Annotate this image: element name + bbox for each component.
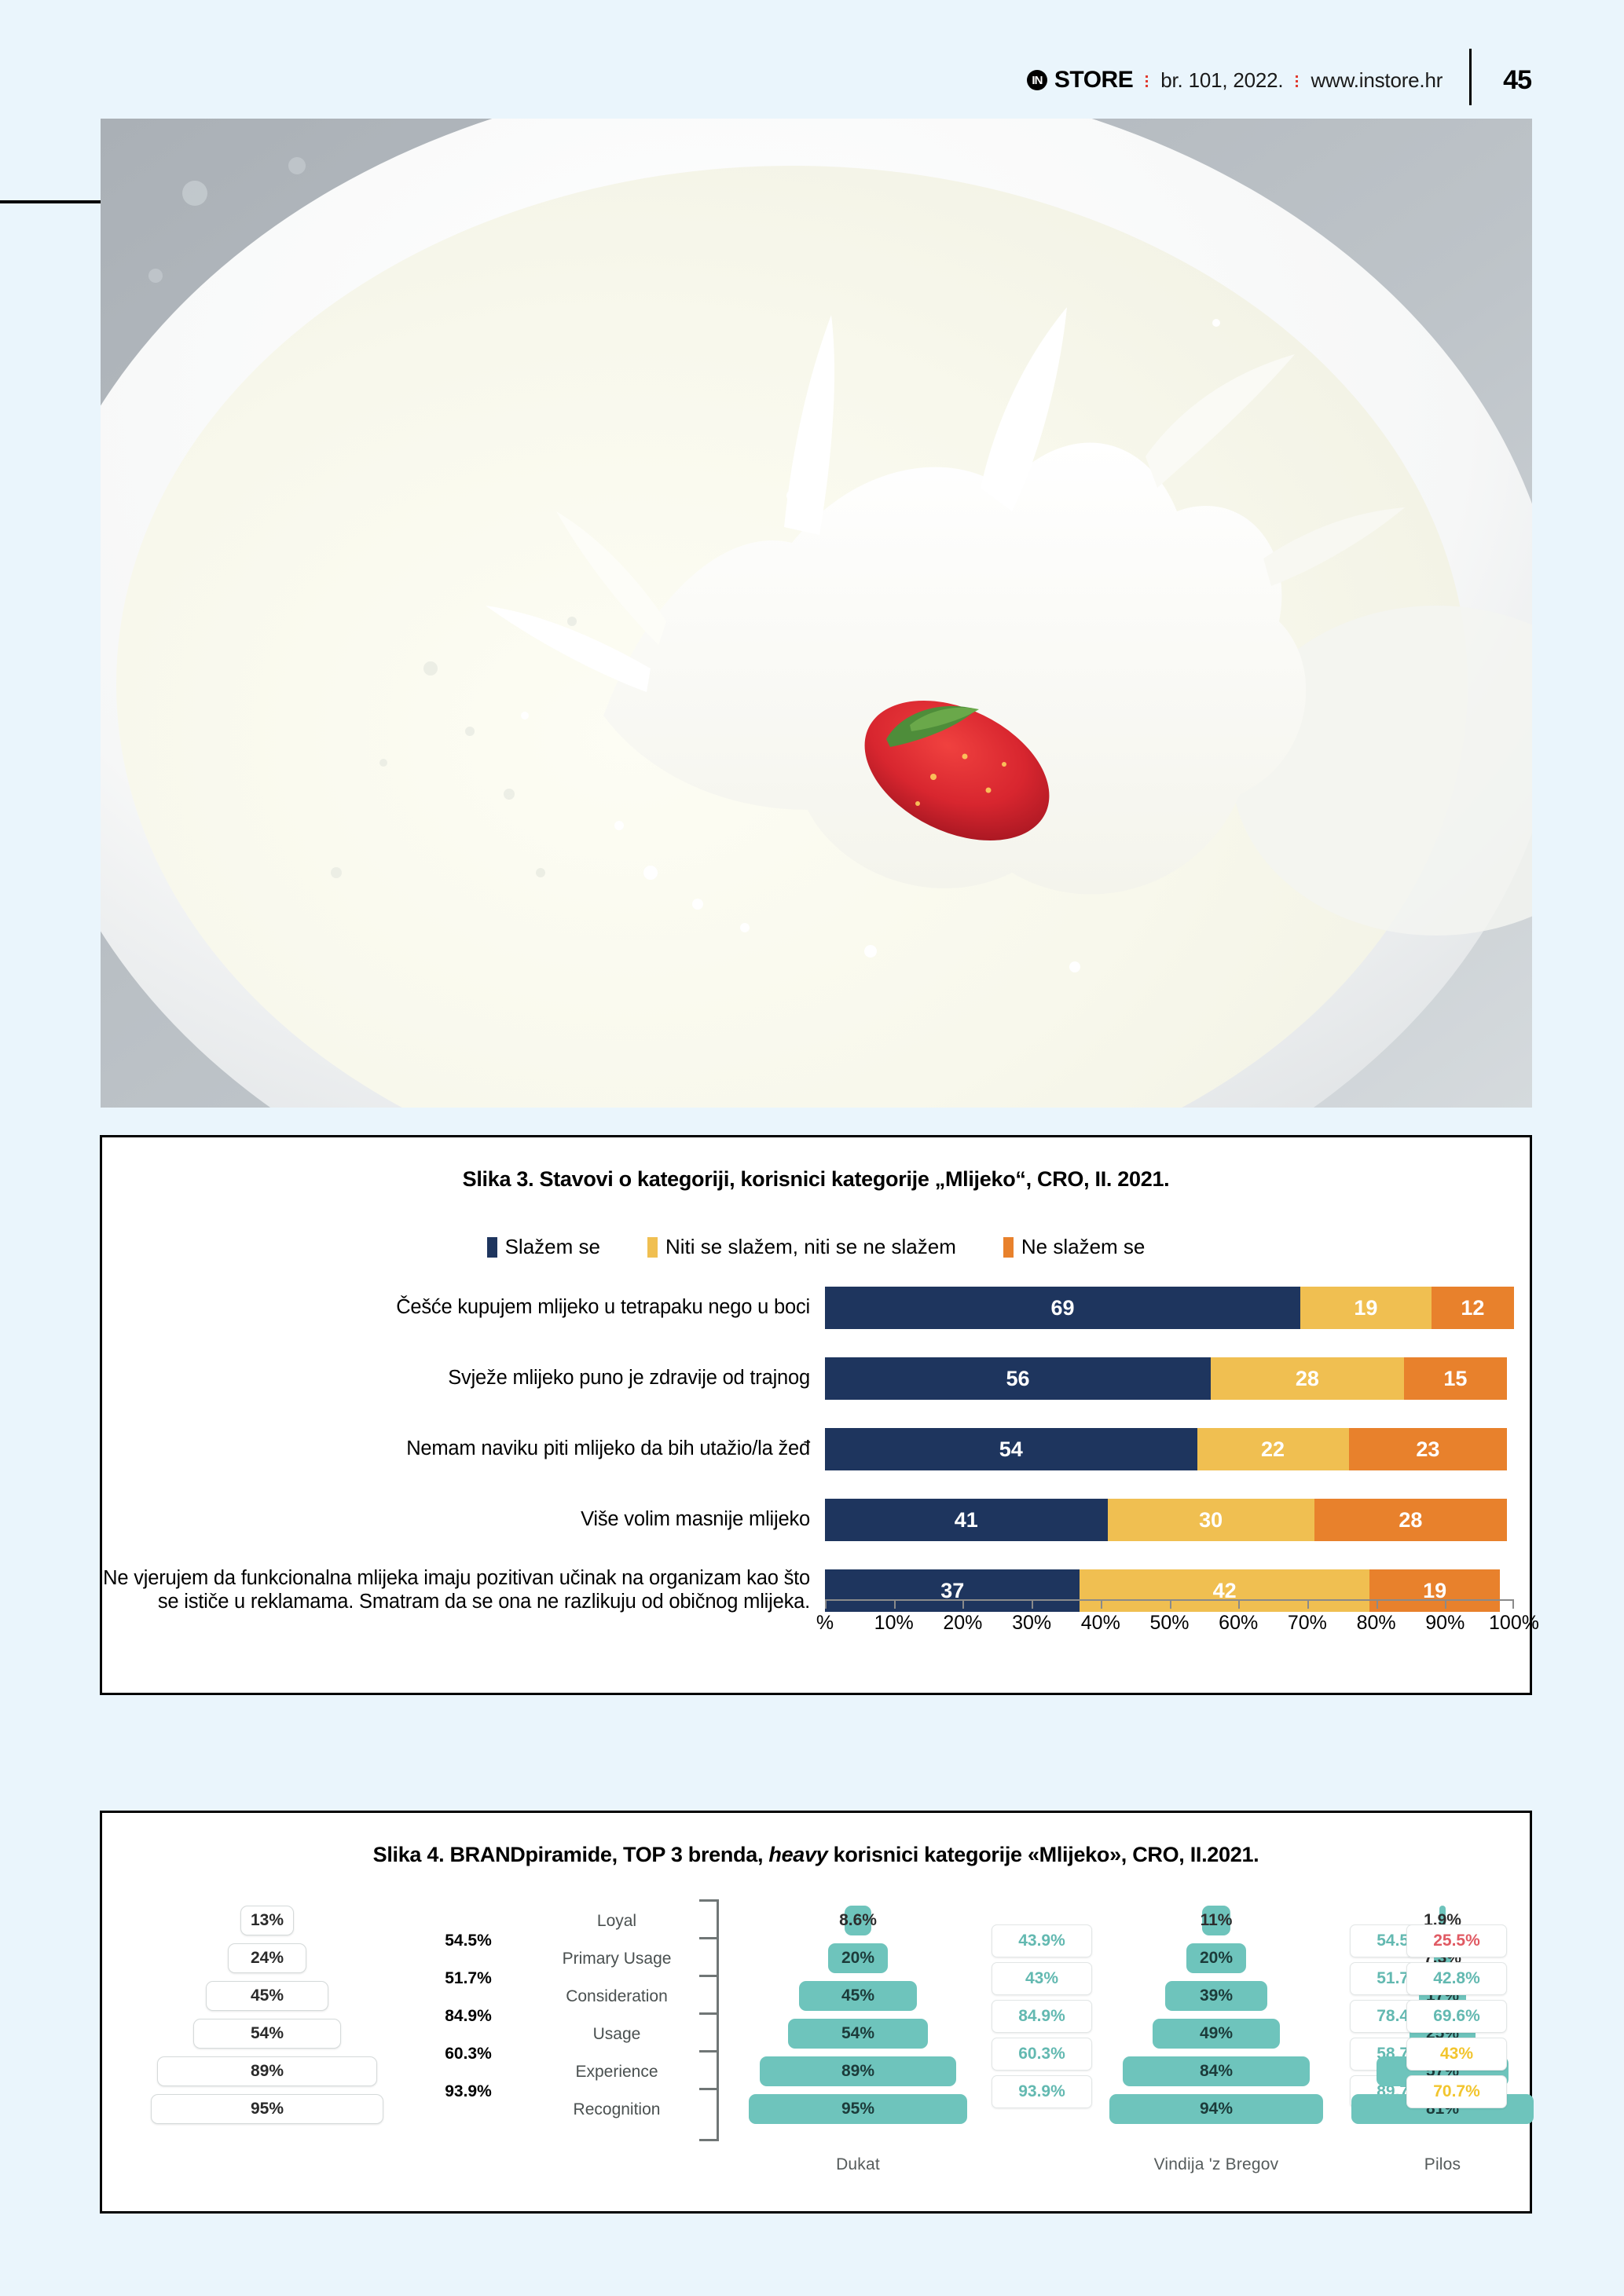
stage-label-loyal: Loyal <box>526 1912 707 1931</box>
bar-segment-neutral: 30 <box>1108 1499 1314 1541</box>
pyramid-bar: 54% <box>193 2019 341 2049</box>
bar-segment-neutral: 28 <box>1211 1357 1404 1400</box>
pyramid-row: 95% <box>740 2094 976 2124</box>
bar-row: Nemam naviku piti mlijeko da bih utažio/… <box>102 1428 1530 1470</box>
conversion-value: 70.7% <box>1406 2075 1507 2108</box>
bar-category-label: Češće kupujem mlijeko u tetrapaku nego u… <box>102 1296 825 1320</box>
conversion-value: 93.9% <box>418 2075 519 2108</box>
pyramid-row: 95% <box>149 2094 385 2124</box>
pyramid-reference: 13% 24% 45% 54% 89% 95% <box>149 1906 385 2141</box>
instore-logo: IN STORE <box>1027 67 1133 93</box>
pyramid-row: 49% <box>1098 2019 1334 2049</box>
axis-tick <box>1512 1599 1514 1609</box>
pyramid-row: 8.6% <box>740 1906 976 1935</box>
milk-splash-illustration <box>101 119 1532 1108</box>
left-horizontal-rule <box>0 200 104 203</box>
pyramid-row: 54% <box>149 2019 385 2049</box>
stage-axis-tick <box>699 2088 717 2090</box>
conversion-value: 25.5% <box>1406 1924 1507 1957</box>
slika3-panel: Slika 3. Stavovi o kategoriji, korisnici… <box>100 1135 1532 1695</box>
bar-category-label: Ne vjerujem da funkcionalna mlijeka imaj… <box>102 1567 825 1614</box>
pyramid-bar: 84% <box>1123 2056 1310 2086</box>
conversion-value: 60.3% <box>992 2038 1092 2071</box>
bar-segment-agree: 56 <box>825 1357 1211 1400</box>
legend-item-neutral: Niti se slažem, niti se ne slažem <box>647 1235 956 1259</box>
pyramid-row: 20% <box>740 1943 976 1973</box>
conversion-value: 54.5% <box>418 1924 519 1957</box>
magazine-header: IN STORE br. 101, 2022. www.instore.hr 4… <box>1027 57 1531 104</box>
bar-category-label: Svježe mlijeko puno je zdravije od trajn… <box>102 1367 825 1390</box>
brand-name-pilos: Pilos <box>1325 2155 1560 2174</box>
pyramid-row: 89% <box>740 2056 976 2086</box>
axis-tick <box>1445 1599 1446 1609</box>
brand-name-vindija: Vindija 'z Bregov <box>1098 2155 1334 2174</box>
pyramid-row: 89% <box>149 2056 385 2086</box>
axis-tick <box>962 1599 964 1609</box>
instore-logo-mark-icon: IN <box>1027 70 1047 90</box>
pyramid-bar: 89% <box>760 2056 956 2086</box>
stage-label-primary-usage: Primary Usage <box>526 1950 707 1968</box>
pyramid-row: 20% <box>1098 1943 1334 1973</box>
legend-item-disagree: Ne slažem se <box>1003 1235 1146 1259</box>
legend-swatch-agree-icon <box>487 1237 497 1258</box>
conversion-value: 84.9% <box>992 2000 1092 2033</box>
pyramid-rows: 11% 20% 39% 49% 84% 94% <box>1098 1906 1334 2141</box>
slika4-title-italic: heavy <box>768 1843 827 1866</box>
slika4-title-post: korisnici kategorije «Mlijeko», CRO, II.… <box>827 1843 1259 1866</box>
conversion-value: 43% <box>1406 2038 1507 2071</box>
axis-tick-label: 50% <box>1149 1612 1189 1635</box>
pyramid-row: 54% <box>740 2019 976 2049</box>
pyramid-bar: 95% <box>749 2094 967 2124</box>
axis-tick <box>894 1599 896 1609</box>
bar-segment-neutral: 19 <box>1300 1287 1432 1329</box>
bar-segment-disagree: 23 <box>1349 1428 1508 1470</box>
stage-axis-tick <box>699 1899 717 1902</box>
axis-tick <box>1170 1599 1171 1609</box>
axis-tick-label: % <box>816 1612 834 1635</box>
axis-tick <box>1238 1599 1240 1609</box>
bar-segment-disagree: 15 <box>1404 1357 1508 1400</box>
slika4-panel: Slika 4. BRANDpiramide, TOP 3 brenda, he… <box>100 1811 1532 2214</box>
pyramid-bar: 8.6% <box>845 1906 871 1935</box>
pyramid-bar: 45% <box>799 1981 917 2011</box>
axis-tick-label: 10% <box>874 1612 914 1635</box>
bar-segment-disagree: 28 <box>1314 1499 1508 1541</box>
legend-swatch-disagree-icon <box>1003 1237 1014 1258</box>
conversion-value: 43.9% <box>992 1924 1092 1957</box>
stage-axis-tick <box>699 2050 717 2052</box>
conversion-value: 42.8% <box>1406 1962 1507 1995</box>
axis-tick-label: 60% <box>1219 1612 1258 1635</box>
conversion-value: 84.9% <box>418 2000 519 2033</box>
bar-track: 56 28 15 <box>825 1357 1514 1400</box>
conversion-value: 43% <box>992 1962 1092 1995</box>
pyramid-brand-vindija: 11% 20% 39% 49% 84% 94% Vindija 'z Brego… <box>1098 1906 1334 2141</box>
bar-segment-neutral: 22 <box>1197 1428 1349 1470</box>
conversion-value: 93.9% <box>992 2075 1092 2108</box>
stage-label-usage: Usage <box>526 2025 707 2044</box>
bar-segment-disagree: 12 <box>1432 1287 1514 1329</box>
legend-label-disagree: Ne slažem se <box>1021 1235 1146 1259</box>
slika4-brandpyramid-chart: 13% 24% 45% 54% 89% 95% 54.5% 51.7% 84.9… <box>102 1906 1530 2196</box>
bar-track: 69 19 12 <box>825 1287 1514 1329</box>
pyramid-row: 24% <box>149 1943 385 1973</box>
issue-label: br. 101, 2022. <box>1160 68 1283 93</box>
header-dot-separator-icon-2 <box>1296 68 1298 93</box>
legend-item-agree: Slažem se <box>487 1235 600 1259</box>
axis-tick-label: 40% <box>1081 1612 1120 1635</box>
axis-tick-label: 80% <box>1357 1612 1396 1635</box>
axis-tick-label: 20% <box>943 1612 982 1635</box>
pyramid-bar: 95% <box>151 2094 383 2124</box>
slika3-title: Slika 3. Stavovi o kategoriji, korisnici… <box>102 1167 1530 1192</box>
pyramid-row: 11% <box>1098 1906 1334 1935</box>
header-vertical-rule <box>1469 49 1472 105</box>
slika3-legend: Slažem se Niti se slažem, niti se ne sla… <box>102 1235 1530 1259</box>
pyramid-bar: 49% <box>1153 2019 1280 2049</box>
pyramid-rows: 8.6% 20% 45% 54% 89% 95% <box>740 1906 976 2141</box>
stage-axis-tick <box>699 2139 717 2141</box>
axis-tick <box>1101 1599 1102 1609</box>
pyramid-bar: 20% <box>828 1943 888 1973</box>
instore-logo-text: STORE <box>1054 67 1133 93</box>
bar-segment-agree: 41 <box>825 1499 1108 1541</box>
pyramid-bar: 20% <box>1186 1943 1246 1973</box>
axis-tick <box>1377 1599 1378 1609</box>
pyramid-brand-dukat: 8.6% 20% 45% 54% 89% 95% Dukat <box>740 1906 976 2141</box>
stage-axis-tick <box>699 1975 717 1977</box>
bar-segment-agree: 69 <box>825 1287 1300 1329</box>
conversion-value: 51.7% <box>418 1962 519 1995</box>
pyramid-bar: 13% <box>240 1906 294 1935</box>
stage-axis-tick <box>699 2012 717 2015</box>
bar-row: Češće kupujem mlijeko u tetrapaku nego u… <box>102 1287 1530 1329</box>
pyramid-bar: 94% <box>1109 2094 1323 2124</box>
stage-label-experience: Experience <box>526 2063 707 2082</box>
hero-photo-milk-splash <box>101 119 1532 1108</box>
axis-tick-label: 30% <box>1012 1612 1051 1635</box>
slika4-title: Slika 4. BRANDpiramide, TOP 3 brenda, he… <box>102 1843 1530 1867</box>
axis-tick-label: 70% <box>1288 1612 1327 1635</box>
pyramid-bar: 54% <box>788 2019 928 2049</box>
slika3-x-axis: % 10% 20% 30% 40% 50% 60% 70% 80% 90% 10… <box>825 1599 1514 1648</box>
axis-tick-label: 90% <box>1425 1612 1465 1635</box>
bar-track: 41 30 28 <box>825 1499 1514 1541</box>
pyramid-row: 13% <box>149 1906 385 1935</box>
pyramid-row: 45% <box>149 1981 385 2011</box>
pyramid-bar: 11% <box>1202 1906 1230 1935</box>
axis-tick <box>825 1599 827 1609</box>
legend-swatch-neutral-icon <box>647 1237 658 1258</box>
legend-label-neutral: Niti se slažem, niti se ne slažem <box>665 1235 956 1259</box>
axis-tick <box>1307 1599 1309 1609</box>
pyramid-bar: 24% <box>228 1943 306 1973</box>
axis-tick <box>1032 1599 1033 1609</box>
pyramid-row: 84% <box>1098 2056 1334 2086</box>
slika3-stacked-bar-chart: Češće kupujem mlijeko u tetrapaku nego u… <box>102 1287 1530 1679</box>
axis-tick-label: 100% <box>1489 1612 1539 1635</box>
bar-category-label: Nemam naviku piti mlijeko da bih utažio/… <box>102 1437 825 1461</box>
header-dot-separator-icon <box>1146 68 1148 93</box>
bar-category-label: Više volim masnije mlijeko <box>102 1508 825 1532</box>
legend-label-agree: Slažem se <box>505 1235 600 1259</box>
conversion-value: 69.6% <box>1406 2000 1507 2033</box>
pyramid-row: 94% <box>1098 2094 1334 2124</box>
pyramid-rows: 13% 24% 45% 54% 89% 95% <box>149 1906 385 2141</box>
stage-axis-tick <box>699 1937 717 1939</box>
stage-label-recognition: Recognition <box>526 2100 707 2119</box>
stage-label-consideration: Consideration <box>526 1987 707 2006</box>
bar-segment-agree: 54 <box>825 1428 1197 1470</box>
bar-track: 54 22 23 <box>825 1428 1514 1470</box>
bar-row: Više volim masnije mlijeko 41 30 28 <box>102 1499 1530 1541</box>
bar-row: Svježe mlijeko puno je zdravije od trajn… <box>102 1357 1530 1400</box>
pyramid-bar: 39% <box>1165 1981 1267 2011</box>
slika4-title-pre: Slika 4. BRANDpiramide, TOP 3 brenda, <box>373 1843 769 1866</box>
stage-axis-line <box>717 1899 719 2141</box>
pyramid-bar: 89% <box>157 2056 377 2086</box>
pyramid-row: 39% <box>1098 1981 1334 2011</box>
conversion-value: 60.3% <box>418 2038 519 2071</box>
pyramid-row: 45% <box>740 1981 976 2011</box>
website-label: www.instore.hr <box>1311 68 1443 93</box>
brand-name-dukat: Dukat <box>740 2155 976 2174</box>
page-number: 45 <box>1503 65 1531 96</box>
pyramid-bar: 45% <box>206 1981 328 2011</box>
